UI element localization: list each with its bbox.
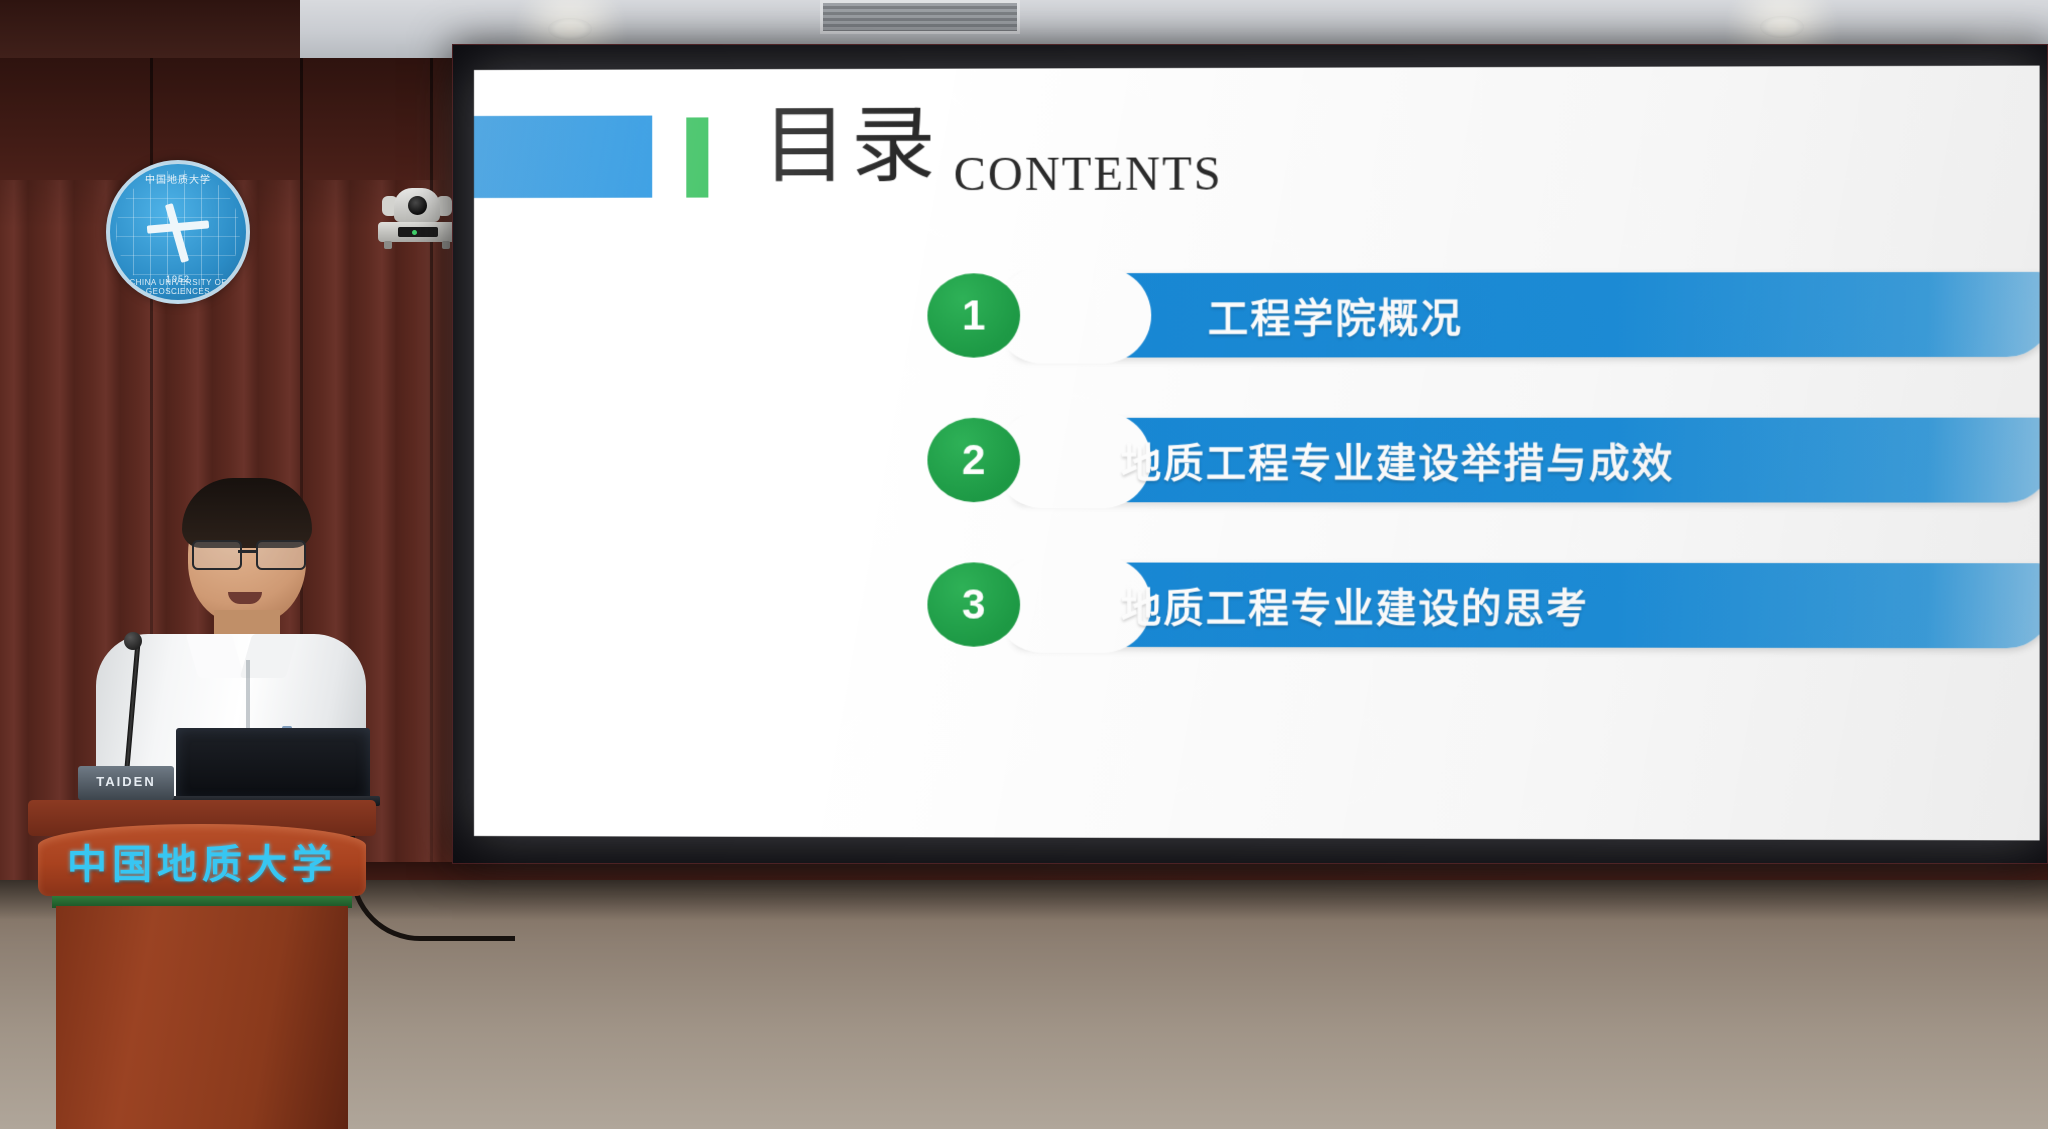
- item-label: 地质工程专业建设的思考: [1121, 556, 1589, 653]
- emblem-name-en: CHINA UNIVERSITY OF GEOSCIENCES: [110, 278, 246, 296]
- page-title: 目录: [763, 103, 940, 188]
- header-blue-block: [474, 116, 652, 198]
- emblem-name-cn: 中国地质大学: [110, 171, 246, 186]
- projection-screen: 目录 CONTENTS 1 工程学院概况 2 地质工程专业建设举措与成效: [452, 44, 2048, 864]
- item-bar: [1012, 272, 2040, 358]
- page-subtitle: CONTENTS: [954, 146, 1223, 202]
- camera-foot: [384, 241, 392, 249]
- presenter-hair: [182, 478, 312, 548]
- camera-ir-strip: [398, 227, 438, 237]
- university-emblem-icon: 中国地质大学 1952 CHINA UNIVERSITY OF GEOSCIEN…: [106, 160, 250, 304]
- contents-list: 1 工程学院概况 2 地质工程专业建设举措与成效 3 地质工程专业建设的思考: [915, 266, 2039, 703]
- ceiling-left-shadow: [0, 0, 300, 58]
- item-number-badge: 2: [927, 418, 1020, 502]
- glasses-bridge: [238, 550, 256, 553]
- item-number-badge: 1: [927, 273, 1020, 357]
- glasses-icon: [192, 540, 304, 566]
- emblem-hammer-icon: [145, 199, 211, 265]
- item-label: 地质工程专业建设举措与成效: [1121, 412, 1674, 509]
- laptop-screen: [176, 728, 370, 802]
- glasses-lens-right: [256, 540, 306, 570]
- conference-unit-brand: TAIDEN: [78, 774, 174, 789]
- presentation-slide: 目录 CONTENTS 1 工程学院概况 2 地质工程专业建设举措与成效: [474, 66, 2040, 841]
- camera-foot: [442, 241, 450, 249]
- ceiling-downlight: [548, 18, 592, 40]
- podium-body: [56, 906, 348, 1129]
- wall-upper-dark-band: [0, 40, 460, 180]
- slide-header: 目录 CONTENTS: [474, 112, 2040, 198]
- camera-lens-icon: [408, 196, 427, 215]
- glasses-lens-left: [192, 540, 242, 570]
- item-label: 工程学院概况: [1208, 267, 1463, 364]
- ceiling-downlight: [1760, 16, 1804, 38]
- university-name: 中国地质大学: [38, 832, 366, 890]
- hvac-vent-icon: [820, 0, 1020, 34]
- podium: 中国地质大学: [28, 800, 376, 1129]
- microphone-icon: [124, 632, 142, 650]
- list-item[interactable]: 1 工程学院概况: [915, 266, 2039, 364]
- list-item[interactable]: 3 地质工程专业建设的思考: [915, 556, 2039, 654]
- wall-panel-seam: [430, 40, 433, 900]
- item-number-badge: 3: [927, 562, 1020, 646]
- header-green-bar: [686, 117, 708, 197]
- camera-status-led: [412, 230, 417, 235]
- ptz-camera-icon: [378, 188, 456, 250]
- lecture-hall-photo: 目录 CONTENTS 1 工程学院概况 2 地质工程专业建设举措与成效: [0, 0, 2048, 1129]
- list-item[interactable]: 2 地质工程专业建设举措与成效: [915, 412, 2039, 509]
